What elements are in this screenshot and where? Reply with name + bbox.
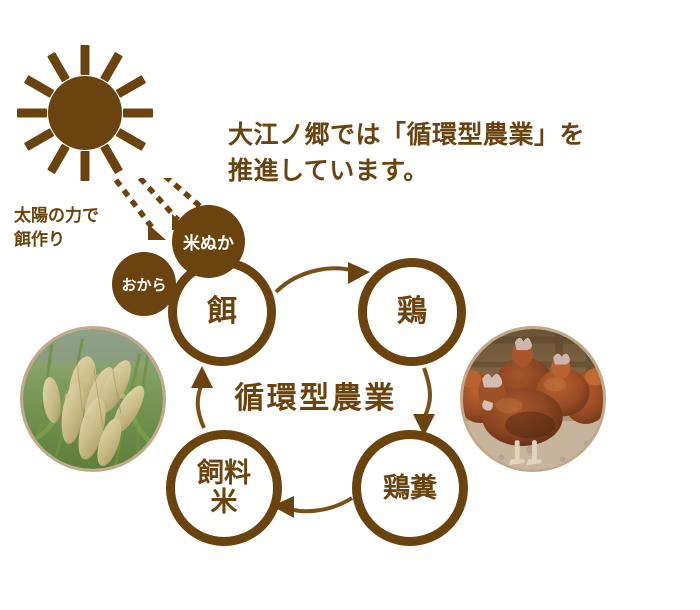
sun-ray: [47, 52, 70, 82]
brown-hens-photo: [460, 326, 606, 472]
infographic-canvas: 大江ノ郷では「循環型農業」を 推進しています。 太陽の力で 餌作り: [0, 0, 700, 610]
input-bubble-rice-bran-label: 米ぬか: [183, 229, 234, 254]
rice-plants-photo: [20, 326, 166, 472]
sun-ray: [47, 144, 70, 174]
sun-ray: [100, 144, 123, 174]
sun-ray: [116, 128, 146, 151]
sun-icon: [14, 42, 156, 184]
cycle-node-ricefeed[interactable]: 飼料 米: [166, 430, 282, 546]
sun-ray: [81, 45, 90, 75]
page-title: 大江ノ郷では「循環型農業」を 推進しています。: [228, 118, 648, 189]
sun-ray: [123, 109, 153, 118]
sun-caption-label: 太陽の力で 餌作り: [14, 204, 144, 252]
sun-ray: [24, 128, 54, 151]
input-bubble-okara[interactable]: おから: [112, 252, 176, 316]
input-bubble-okara-label: おから: [121, 274, 166, 295]
sun-ray: [24, 75, 54, 98]
cycle-node-chicken-label: 鶏: [397, 297, 427, 327]
cycle-node-manure-label: 鶏糞: [383, 475, 437, 502]
sun-ray: [81, 151, 90, 181]
sun-core: [48, 76, 122, 150]
input-bubble-rice-bran[interactable]: 米ぬか: [172, 205, 245, 278]
sun-ray: [17, 109, 47, 118]
sun-ray: [116, 75, 146, 98]
sun-ray: [100, 52, 123, 82]
center-label: 循環型農業: [208, 373, 423, 417]
arrow-feed-to-chicken: [276, 262, 370, 292]
cycle-node-feed-label: 餌: [207, 297, 237, 327]
arrow-manure-to-ricefeed: [272, 496, 352, 518]
cycle-node-manure[interactable]: 鶏糞: [352, 430, 468, 546]
cycle-node-ricefeed-label: 飼料 米: [197, 459, 251, 516]
cycle-node-chicken[interactable]: 鶏: [358, 258, 466, 366]
